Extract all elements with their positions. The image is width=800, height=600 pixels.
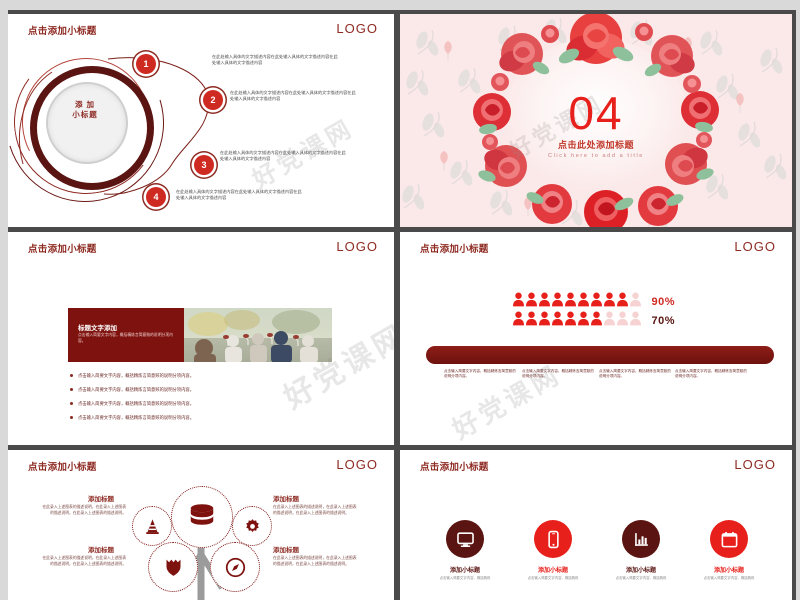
pictogram-row-2: 70% [512,311,675,331]
person-icon [525,311,538,326]
photo-placeholder [184,308,332,362]
bubble-database[interactable] [171,486,233,548]
logo-text: LOGO [734,457,776,472]
gutter-vertical [394,10,400,600]
person-icon [616,311,629,326]
pictogram-glyphs-row-1 [512,292,642,312]
slide-thumbnail-grid: 点击添加小标题 LOGO 添 加 小标题 1 在此处输入具体的文字描述内容在此处… [0,0,800,600]
rose-background: 04 点击此处添加标题 Click here to add a title 好党… [400,14,792,227]
slide-5[interactable]: 点击添加小标题 LOGO [8,450,394,600]
smartphone-icon [544,530,563,549]
slide-2[interactable]: 04 点击此处添加标题 Click here to add a title 好党… [400,14,792,227]
icon-label-3: 添加小标题 [601,565,681,574]
person-icon [577,311,590,326]
person-icon [564,311,577,326]
icon-desc-2: 点击输入简要文字内容，概括精炼 [513,576,593,581]
person-icon [603,311,616,326]
slide-3-header: 点击添加小标题 LOGO [8,232,394,264]
ribbon-heading-1: 添加标题 [444,235,472,245]
slide-1[interactable]: 点击添加小标题 LOGO 添 加 小标题 1 在此处输入具体的文字描述内容在此处… [8,14,394,227]
page-title: 点击添加小标题 [28,241,97,255]
person-icon [590,311,603,326]
icon-button-calendar[interactable] [710,520,748,558]
tree-heading-3: 添加标题 [88,544,114,554]
icon-desc-4: 点击输入简要文字内容，概括精炼 [689,576,769,581]
cone-icon [144,518,161,535]
column-desc-4: 点击输入简要文字内容，概括精炼言简意赅的说明分项内容。 [675,369,749,379]
icon-button-smartphone[interactable] [534,520,572,558]
person-icon [564,292,577,307]
list-item: 点击输入简要文字内容，概括精炼言简意赅的说明分项内容。 [68,414,328,421]
icon-button-bar-chart[interactable] [622,520,660,558]
tree-heading-1: 添加标题 [88,493,114,503]
section-title-cn: 点击此处添加标题 [548,138,644,151]
column-desc-2: 点击输入简要文字内容，概括精炼言简意赅的说明分项内容。 [522,369,596,379]
person-icon [538,292,551,307]
bubble-compass[interactable] [210,542,260,592]
person-icon [590,292,603,307]
section-number: 04 [548,91,644,135]
section-title-en: Click here to add a title [548,153,644,159]
icon-button-monitor[interactable] [446,520,484,558]
compass-icon [225,557,246,578]
person-icon [538,311,551,326]
icon-label-1: 添加小标题 [425,565,505,574]
tree-desc-4: 在此录入上述图表的描述说明，在此录入上述图表的描述说明，在此录入上述图表的描述说… [273,555,359,567]
pictogram-row-1: 90% [512,292,675,312]
person-icon [551,292,564,307]
pictogram-value-2: 70% [652,315,676,327]
tree-heading-2: 添加标题 [273,493,299,503]
gear-icon [244,518,261,535]
step-badge-3[interactable]: 3 [194,155,214,175]
monitor-icon [456,530,475,549]
icon-desc-1: 点击输入简要文字内容，概括精炼 [425,576,505,581]
tree-desc-3: 在此录入上述图表的描述说明，在此录入上述图表的描述说明，在此录入上述图表的描述说… [40,555,126,567]
highlight-box-subtitle: 点击输入简要文字内容，概括精炼言简意赅的说明分项内容。 [78,333,176,344]
logo-text: LOGO [336,239,378,254]
pictogram-value-1: 90% [652,296,676,308]
ribbon-heading-4: 添加标题 [675,235,703,245]
list-item: 点击输入简要文字内容，概括精炼言简意赅的说明分项内容。 [68,400,328,407]
person-icon [512,311,525,326]
page-title: 点击添加小标题 [420,459,489,473]
person-icon [629,292,642,307]
slide-6-header: 点击添加小标题 LOGO [400,450,792,482]
highlight-box[interactable]: 标题文字添加 点击输入简要文字内容，概括精炼言简意赅的说明分项内容。 [68,308,184,362]
bubble-gear[interactable] [232,506,272,546]
person-icon [551,311,564,326]
tree-desc-1: 在此录入上述图表的描述说明，在此录入上述图表的描述说明，在此录入上述图表的描述说… [40,504,126,516]
shield-icon [163,557,184,578]
person-icon [629,311,642,326]
highlight-box-title: 标题文字添加 [78,322,117,332]
step-text-3: 在此处输入具体的文字描述内容在此处输入具体的文字描述内容在此处输入具体的文字描述… [220,150,348,163]
step-text-2: 在此处输入具体的文字描述内容在此处输入具体的文字描述内容在此处输入具体的文字描述… [230,90,358,103]
step-number-2: 2 [210,95,215,105]
people-toasting-photo [184,308,332,362]
ribbon-heading-2: 添加标题 [522,235,550,245]
icon-label-2: 添加小标题 [513,565,593,574]
bar-chart-icon [632,530,651,549]
step-text-4: 在此处输入具体的文字描述内容在此处输入具体的文字描述内容在此处输入具体的文字描述… [176,189,304,202]
ribbon-heading-3: 添加标题 [599,235,627,245]
person-icon [525,292,538,307]
rose-center-text: 04 点击此处添加标题 Click here to add a title [548,91,644,159]
pictogram-glyphs-row-2 [512,311,642,331]
slide-6[interactable]: 点击添加小标题 LOGO [400,450,792,600]
slide-4[interactable]: 点击添加小标题 LOGO 90% 70% 添加标题 添加标题 添加标题 添加标题… [400,232,792,445]
step-number-3: 3 [201,160,206,170]
icon-desc-3: 点击输入简要文字内容，概括精炼 [601,576,681,581]
tree-desc-2: 在此录入上述图表的描述说明，在此录入上述图表的描述说明，在此录入上述图表的描述说… [273,504,359,516]
person-icon [577,292,590,307]
person-icon [512,292,525,307]
step-number-4: 4 [153,192,158,202]
gutter-right [792,10,796,600]
gutter-mid-1 [8,227,792,232]
calendar-icon [720,530,739,549]
bubble-cone[interactable] [132,506,172,546]
list-item: 点击输入简要文字内容，概括精炼言简意赅的说明分项内容。 [68,372,328,379]
list-item: 点击输入简要文字内容，概括精炼言简意赅的说明分项内容。 [68,386,328,393]
step-number-1: 1 [143,59,148,69]
tree-heading-4: 添加标题 [273,544,299,554]
bullet-list: 点击输入简要文字内容，概括精炼言简意赅的说明分项内容。 点击输入简要文字内容，概… [68,372,328,428]
step-text-1: 在此处输入具体的文字描述内容在此处输入具体的文字描述内容在此处输入具体的文字描述… [212,54,340,67]
column-desc-3: 点击输入简要文字内容，概括精炼言简意赅的说明分项内容。 [599,369,673,379]
step-badge-1[interactable]: 1 [136,54,156,74]
ribbon-bar [426,346,774,364]
slide-3[interactable]: 点击添加小标题 LOGO 标题文字添加 点击输入简要文字内容，概括精炼言简意赅的… [8,232,394,445]
icon-label-4: 添加小标题 [689,565,769,574]
person-icon [603,292,616,307]
gutter-top [8,10,792,14]
gutter-mid-2 [8,445,792,450]
database-icon [187,502,217,532]
person-icon [616,292,629,307]
logo-text: LOGO [734,239,776,254]
step-badge-2[interactable]: 2 [203,90,223,110]
bubble-shield[interactable] [148,542,198,592]
step-badge-4[interactable]: 4 [146,187,166,207]
column-desc-1: 点击输入简要文字内容，概括精炼言简意赅的说明分项内容。 [444,369,518,379]
